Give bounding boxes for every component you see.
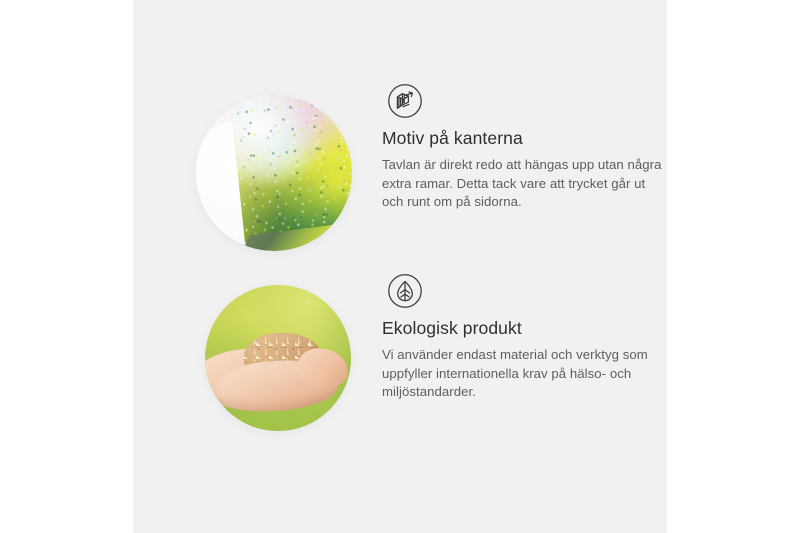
leaf-glyph [382, 268, 428, 314]
feature-text-eco: Ekologisk produkt Vi använder endast mat… [382, 318, 667, 402]
feature-text-edges: Motiv på kanterna Tavlan är direkt redo … [382, 128, 667, 212]
canvas-front-face [229, 95, 352, 245]
feature-description-eco: Vi använder endast material och verktyg … [382, 346, 667, 402]
canvas-texture [229, 95, 352, 245]
product-feature-banner: Motiv på kanterna Tavlan är direkt redo … [0, 0, 800, 533]
feature-title-edges: Motiv på kanterna [382, 128, 667, 150]
content-panel: Motiv på kanterna Tavlan är direkt redo … [133, 0, 667, 533]
hands-holding-wood-chips-photo [205, 285, 351, 431]
leaf-icon [382, 268, 428, 314]
feature-description-edges: Tavlan är direkt redo att hängas upp uta… [382, 156, 667, 212]
feature-title-eco: Ekologisk produkt [382, 318, 667, 340]
canvas-wrapped-edges-glyph [382, 78, 428, 124]
canvas-block [229, 95, 352, 245]
canvas-wrapped-edges-icon [382, 78, 428, 124]
feature-block-eco: Ekologisk produkt Vi använder endast mat… [133, 268, 667, 443]
feature-block-edges: Motiv på kanterna Tavlan är direkt redo … [133, 78, 667, 263]
canvas-print-corner-photo [196, 95, 352, 251]
